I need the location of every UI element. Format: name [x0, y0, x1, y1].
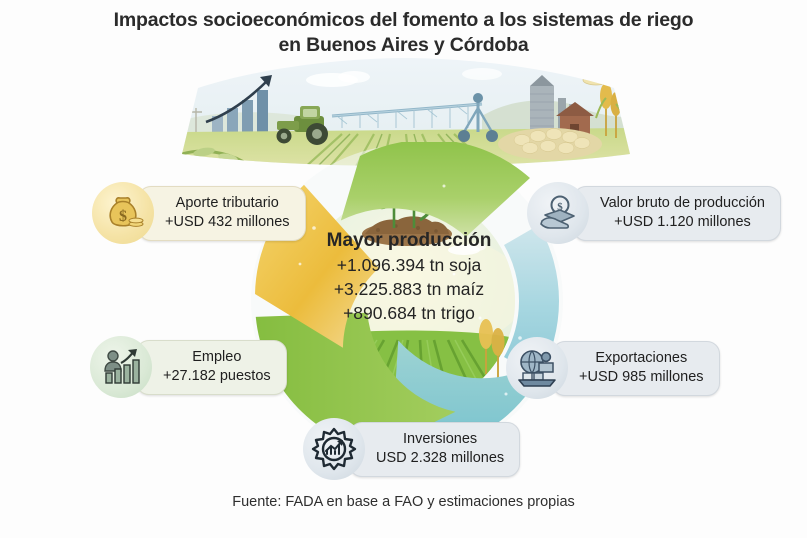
callout-inversiones[interactable]: Inversiones USD 2.328 millones [303, 418, 520, 480]
callout-valor-bruto-produccion[interactable]: $ Valor bruto de producción +USD 1.120 m… [527, 182, 781, 244]
callout-exportaciones[interactable]: Exportaciones +USD 985 millones [506, 337, 720, 399]
callout-value-empleo: +27.182 puestos [163, 367, 271, 386]
hand-holding-money-icon: $ [527, 182, 589, 244]
callout-pill-inversiones: Inversiones USD 2.328 millones [349, 422, 520, 477]
callout-pill-aporte-tributario: Aporte tributario +USD 432 millones [138, 186, 306, 241]
source-note: Fuente: FADA en base a FAO y estimacione… [0, 494, 807, 510]
gear-chart-icon [303, 418, 365, 480]
callout-label-exportaciones: Exportaciones [579, 349, 704, 368]
callout-label-empleo: Empleo [163, 348, 271, 367]
title-line-1: Impactos socioeconómicos del fomento a l… [0, 8, 807, 33]
callout-pill-exportaciones: Exportaciones +USD 985 millones [552, 341, 720, 396]
money-bag-icon: $ [92, 182, 154, 244]
callout-value-inversiones: USD 2.328 millones [376, 449, 504, 468]
page-title: Impactos socioeconómicos del fomento a l… [0, 8, 807, 58]
callout-value-aporte-tributario: +USD 432 millones [165, 213, 290, 232]
callout-label-valor-bruto: Valor bruto de producción [600, 194, 765, 213]
callout-aporte-tributario[interactable]: $ Aporte tributario +USD 432 millones [92, 182, 306, 244]
title-line-2: en Buenos Aires y Córdoba [0, 33, 807, 58]
infographic-page: Impactos socioeconómicos del fomento a l… [0, 0, 807, 538]
callout-label-inversiones: Inversiones [376, 430, 504, 449]
callout-value-valor-bruto: +USD 1.120 millones [600, 213, 765, 232]
callout-value-exportaciones: +USD 985 millones [579, 368, 704, 387]
callout-empleo[interactable]: Empleo +27.182 puestos [90, 336, 287, 398]
callout-pill-empleo: Empleo +27.182 puestos [136, 340, 287, 395]
callout-label-aporte-tributario: Aporte tributario [165, 194, 290, 213]
globe-cargo-ship-icon [506, 337, 568, 399]
callout-pill-valor-bruto: Valor bruto de producción +USD 1.120 mil… [573, 186, 781, 241]
svg-text:$: $ [119, 208, 127, 225]
person-bar-chart-growth-icon [90, 336, 152, 398]
